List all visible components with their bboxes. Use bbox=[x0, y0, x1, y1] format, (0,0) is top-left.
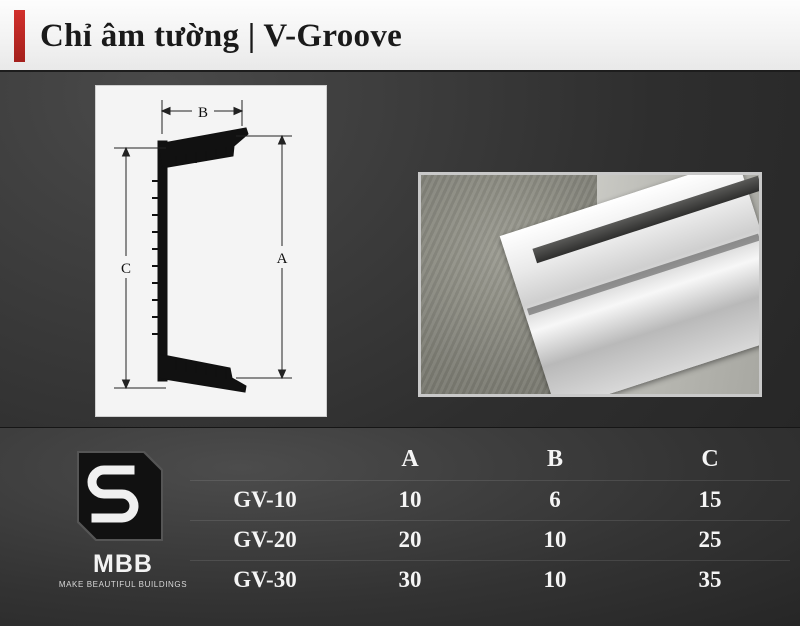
mbb-logo-icon bbox=[70, 446, 170, 546]
dimension-label-a: A bbox=[277, 251, 288, 267]
cell-c: 35 bbox=[630, 561, 790, 601]
technical-drawing-panel: B C bbox=[96, 86, 326, 416]
cell-model: GV-10 bbox=[190, 481, 340, 521]
cell-b: 10 bbox=[480, 561, 630, 601]
product-photo bbox=[418, 172, 762, 397]
table-row: GV-30 30 10 35 bbox=[190, 561, 790, 601]
table-row: GV-10 10 6 15 bbox=[190, 481, 790, 521]
cell-a: 20 bbox=[340, 521, 480, 561]
cell-b: 6 bbox=[480, 481, 630, 521]
table-row: GV-20 20 10 25 bbox=[190, 521, 790, 561]
column-header-a: A bbox=[340, 440, 480, 481]
cell-c: 25 bbox=[630, 521, 790, 561]
cell-model: GV-20 bbox=[190, 521, 340, 561]
cell-a: 30 bbox=[340, 561, 480, 601]
brand-tagline: MAKE BEAUTIFUL BUILDINGS bbox=[48, 580, 198, 589]
page-title: Chỉ âm tường | V-Groove bbox=[40, 14, 402, 58]
spec-table: A B C GV-10 10 6 15 GV-20 20 10 25 bbox=[190, 440, 790, 600]
visual-section: B C bbox=[0, 72, 800, 427]
header: Chỉ âm tường | V-Groove bbox=[0, 0, 800, 72]
technical-drawing-svg: B C bbox=[96, 86, 326, 416]
dimension-label-c: C bbox=[121, 261, 131, 277]
cell-model: GV-30 bbox=[190, 561, 340, 601]
dimension-label-b: B bbox=[198, 105, 208, 121]
brand-name: MBB bbox=[48, 550, 198, 579]
accent-bar bbox=[14, 10, 25, 62]
brand-logo: MBB MAKE BEAUTIFUL BUILDINGS bbox=[48, 446, 198, 596]
cell-b: 10 bbox=[480, 521, 630, 561]
column-header-b: B bbox=[480, 440, 630, 481]
column-header-c: C bbox=[630, 440, 790, 481]
cell-c: 15 bbox=[630, 481, 790, 521]
cell-a: 10 bbox=[340, 481, 480, 521]
spec-section: MBB MAKE BEAUTIFUL BUILDINGS A B C GV-10… bbox=[0, 427, 800, 626]
mbb-logo-svg bbox=[70, 446, 170, 546]
product-spec-sheet: Chỉ âm tường | V-Groove bbox=[0, 0, 800, 625]
table-header-row: A B C bbox=[190, 440, 790, 481]
column-header-model bbox=[190, 440, 340, 481]
